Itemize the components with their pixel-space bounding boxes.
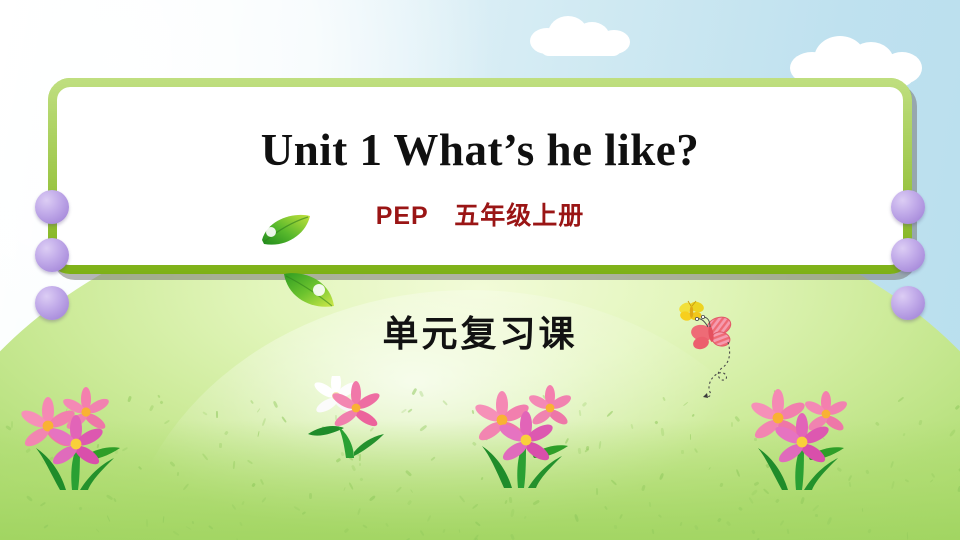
leaf-upper-icon [258,210,314,250]
grass-speck [11,420,13,427]
book-subtitle: PEP 五年级上册 [48,196,912,232]
flower-cluster-left [300,376,400,462]
grass-speck [681,450,684,454]
flower-cluster-right [740,386,870,494]
bead-left-2 [35,238,69,272]
page-title: Unit 1 What’s he like? [48,124,912,176]
grass-speck [309,493,312,499]
bead-right-2 [891,238,925,272]
grass-speck [216,411,218,418]
grass-speck [219,443,222,448]
flower-cluster-far-left [14,386,144,494]
flower-pink-upper-right [527,385,573,427]
flower-pink-upper [61,387,111,432]
grass-speck [651,529,654,534]
lesson-type-label: 单元复习课 [0,305,960,357]
flower-cluster-center [466,384,592,492]
title-frame: Unit 1 What’s he like? PEP 五年级上册 [48,78,912,274]
title-frame-border [48,78,912,274]
slide-canvas: Unit 1 What’s he like? PEP 五年级上册 [0,0,960,540]
cloud-left [530,14,640,56]
grass-speck [614,525,618,529]
